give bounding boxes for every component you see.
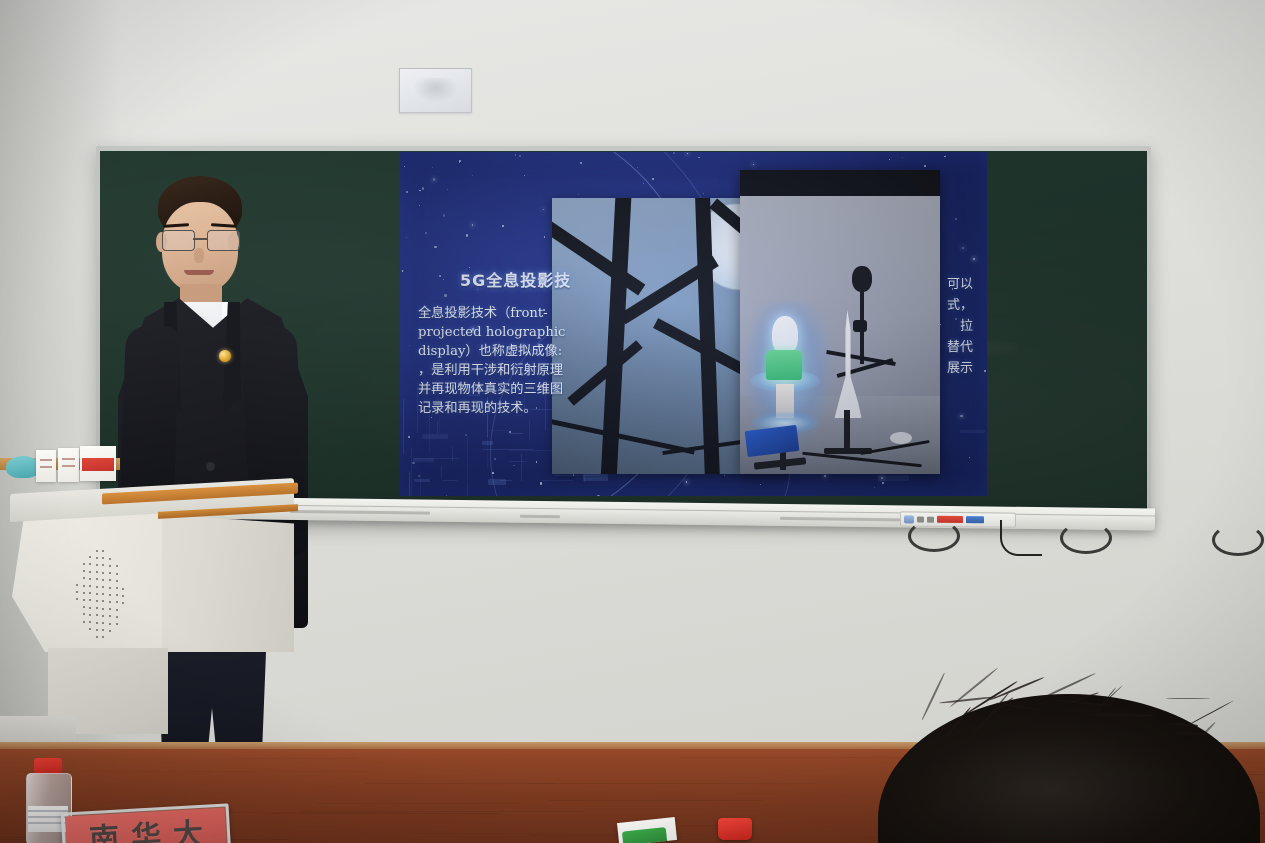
star xyxy=(824,475,826,477)
star xyxy=(960,415,962,417)
grille-hole xyxy=(89,578,91,580)
grille-hole xyxy=(76,584,78,586)
nose xyxy=(194,248,204,263)
slide-heading: 5G全息投影技 xyxy=(460,267,571,291)
grille-hole xyxy=(89,556,91,558)
wall-notice-sheet xyxy=(399,68,472,113)
slide-right-line: 替代 xyxy=(881,337,973,358)
circuit-line xyxy=(521,454,522,481)
grille-hole xyxy=(116,573,118,575)
grille-hole xyxy=(116,594,118,596)
grille-hole xyxy=(96,600,98,602)
board-roller xyxy=(1060,522,1112,554)
circuit-line xyxy=(529,420,530,439)
grille-hole xyxy=(96,622,98,624)
wood-grain xyxy=(300,811,581,812)
grille-hole xyxy=(83,613,85,615)
wood-grain xyxy=(271,813,500,814)
grille-hole xyxy=(109,565,111,567)
hair-strand xyxy=(995,733,1051,736)
grille-hole xyxy=(89,571,91,573)
wood-grain xyxy=(365,783,558,784)
grille-hole xyxy=(83,621,85,623)
star xyxy=(969,457,970,458)
circuit-chip xyxy=(422,434,447,439)
star xyxy=(687,153,688,154)
circuit-line xyxy=(441,466,442,477)
grille-hole xyxy=(83,570,85,572)
gold-lapel-pin xyxy=(219,350,231,362)
star xyxy=(703,193,704,194)
grille-hole xyxy=(109,630,111,632)
circuit-line xyxy=(467,436,468,480)
bottle-cap xyxy=(718,818,752,840)
grille-hole xyxy=(109,601,111,603)
hanging-cable xyxy=(1000,520,1042,556)
grille-hole xyxy=(83,606,85,608)
circuit-line xyxy=(490,430,512,431)
circuit-line xyxy=(509,450,558,451)
circuit-line xyxy=(467,482,468,496)
circuit-chip xyxy=(488,479,506,486)
circuit-line xyxy=(509,461,527,462)
grille-hole xyxy=(89,592,91,594)
slide-right-line: 可以 xyxy=(881,274,973,295)
slide-right-text: 可以式，拉替代展示 xyxy=(881,274,973,379)
circuit-line xyxy=(443,480,457,481)
jacket-button xyxy=(206,462,215,471)
slide-right-line: 展示 xyxy=(881,358,973,379)
grille-hole xyxy=(96,614,98,616)
star xyxy=(962,247,964,249)
grille-hole xyxy=(109,572,111,574)
floor-disc xyxy=(890,432,912,444)
grille-hole xyxy=(116,580,118,582)
board-roller xyxy=(1212,524,1264,556)
grille-hole xyxy=(76,598,78,600)
slide-right-line: 式， xyxy=(881,295,973,316)
circuit-line xyxy=(403,399,404,453)
star xyxy=(973,258,975,260)
star xyxy=(673,152,675,154)
grille-hole xyxy=(102,550,104,552)
star xyxy=(944,156,946,158)
grille-hole xyxy=(109,579,111,581)
star xyxy=(874,487,875,488)
circuit-chip xyxy=(482,441,493,445)
slide-right-line: 拉 xyxy=(881,316,973,337)
grille-hole xyxy=(109,594,111,596)
slide-body-text: 全息投影技术（front-projected holographicdispla… xyxy=(418,304,668,418)
circuit-chip xyxy=(960,430,985,434)
grille-hole xyxy=(102,622,104,624)
circuit-line xyxy=(420,473,421,496)
grille-hole xyxy=(116,565,118,567)
box-red-label xyxy=(82,458,114,471)
slide-body-line: display）也称虚拟成像: xyxy=(418,342,668,361)
grille-hole xyxy=(96,593,98,595)
hair-strand xyxy=(1166,698,1210,699)
grille-hole xyxy=(122,602,124,604)
circuit-line xyxy=(409,473,410,497)
star xyxy=(882,482,884,484)
grille-hole xyxy=(109,615,111,617)
wood-grain xyxy=(549,800,761,801)
circuit-chip xyxy=(414,479,430,482)
grille-hole xyxy=(89,621,91,623)
grille-hole xyxy=(96,586,98,588)
grille-hole xyxy=(102,629,104,631)
slide-body-line: ，是利用干涉和衍射原理 xyxy=(418,361,668,380)
power-icon[interactable] xyxy=(904,515,914,523)
grille-hole xyxy=(102,593,104,595)
hair-strand xyxy=(1143,745,1182,753)
grille-hole xyxy=(102,608,104,610)
star xyxy=(984,370,986,372)
grille-hole xyxy=(96,571,98,573)
slide-body-line: projected holographic xyxy=(418,323,668,342)
grille-hole xyxy=(102,572,104,574)
grille-hole xyxy=(83,592,85,594)
grille-hole xyxy=(96,564,98,566)
grille-hole xyxy=(96,578,98,580)
classroom-presentation-photo: 5G全息投影技 全息投影技术（front-projected holograph… xyxy=(0,0,1265,843)
grille-hole xyxy=(89,585,91,587)
hair-strand xyxy=(1072,692,1099,703)
star xyxy=(902,157,903,158)
bottle-cap xyxy=(34,758,62,774)
circuit-line xyxy=(439,417,440,433)
mouth xyxy=(184,270,214,275)
wood-grain xyxy=(692,798,841,799)
grille-hole xyxy=(96,550,98,552)
slide-body-line: 全息投影技术（front- xyxy=(418,304,668,323)
grille-hole xyxy=(109,587,111,589)
slide-body-line: 并再现物体真实的三维图 xyxy=(418,380,668,399)
wood-grain xyxy=(317,803,521,804)
grille-hole xyxy=(89,628,91,630)
grille-hole xyxy=(83,585,85,587)
slide-body-line: 记录和再现的技术。 xyxy=(418,399,668,418)
wood-grain xyxy=(236,758,358,759)
star xyxy=(924,165,926,167)
grille-hole xyxy=(116,616,118,618)
podium xyxy=(10,472,298,732)
grille-hole xyxy=(122,595,124,597)
star xyxy=(955,218,957,220)
blue-label-button[interactable] xyxy=(966,516,984,523)
grille-hole xyxy=(83,599,85,601)
grille-hole xyxy=(109,558,111,560)
circuit-chip xyxy=(878,475,909,481)
speaker-grille xyxy=(76,548,128,642)
grille-hole xyxy=(76,591,78,593)
grille-hole xyxy=(109,623,111,625)
projected-slide: 5G全息投影技 全息投影技术（front-projected holograph… xyxy=(400,152,987,496)
circuit-chip xyxy=(583,474,608,481)
circuit-line xyxy=(509,433,523,434)
star xyxy=(698,157,699,158)
grille-hole xyxy=(102,586,104,588)
board-roller xyxy=(908,520,960,552)
grille-hole xyxy=(102,579,104,581)
star xyxy=(889,159,890,160)
eyeglasses xyxy=(160,230,240,250)
grille-hole xyxy=(83,577,85,579)
grille-hole xyxy=(89,599,91,601)
grille-hole xyxy=(116,587,118,589)
grille-hole xyxy=(96,607,98,609)
grille-hole xyxy=(96,636,98,638)
grille-hole xyxy=(109,608,111,610)
wood-grain xyxy=(529,783,818,784)
grille-hole xyxy=(122,588,124,590)
grille-hole xyxy=(102,564,104,566)
hair-strand xyxy=(1065,715,1075,728)
circuit-line xyxy=(437,421,438,435)
grille-hole xyxy=(102,557,104,559)
grille-hole xyxy=(102,636,104,638)
grille-hole xyxy=(89,563,91,565)
grille-hole xyxy=(116,601,118,603)
grille-hole xyxy=(102,615,104,617)
grille-hole xyxy=(102,600,104,602)
circuit-line xyxy=(411,448,412,496)
grille-hole xyxy=(96,629,98,631)
grille-hole xyxy=(116,609,118,611)
circuit-chip xyxy=(413,458,434,462)
grille-hole xyxy=(116,623,118,625)
grille-hole xyxy=(96,557,98,559)
grille-hole xyxy=(83,563,85,565)
holographic-figure xyxy=(758,312,818,438)
circuit-line xyxy=(452,447,453,461)
hair-strand xyxy=(1111,710,1127,723)
grille-hole xyxy=(89,614,91,616)
star xyxy=(753,164,754,165)
circuit-line xyxy=(541,480,573,481)
grille-hole xyxy=(89,607,91,609)
